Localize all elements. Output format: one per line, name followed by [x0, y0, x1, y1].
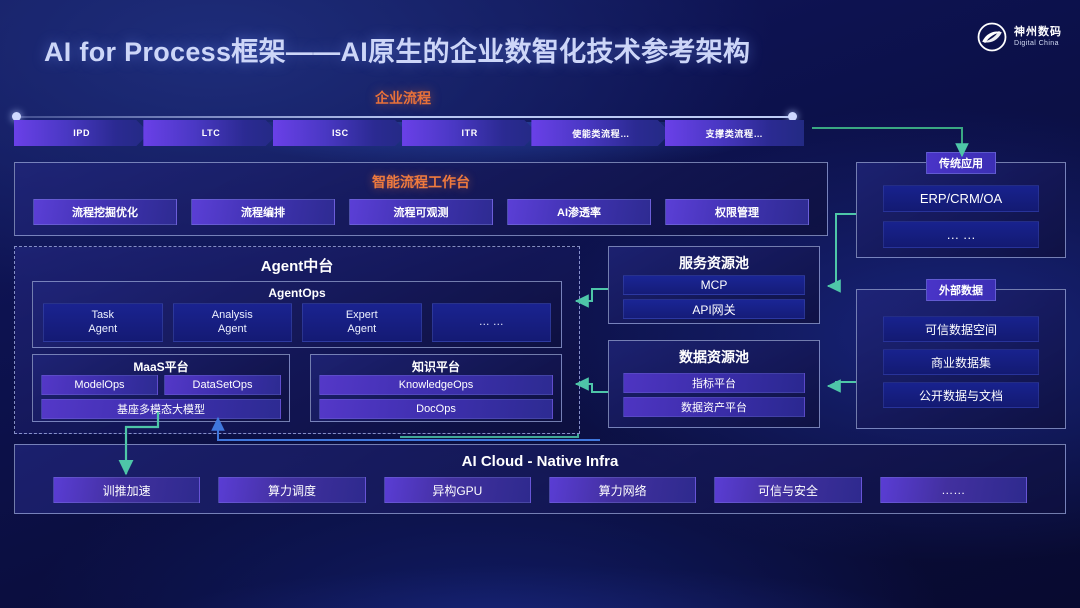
- service-pool-title: 服务资源池: [609, 253, 819, 273]
- service-pool-rows: MCP API网关: [623, 275, 805, 319]
- connector-external-data-to-data-pool: [828, 382, 856, 386]
- logo-text-cn: 神州数码: [1014, 27, 1062, 39]
- process-chevron-bar: IPD LTC ISC ITR 使能类流程… 支撑类流程…: [14, 120, 804, 146]
- agentops-box-expert-agent[interactable]: Expert Agent: [302, 303, 422, 342]
- service-pool-chip-mcp[interactable]: MCP: [623, 275, 805, 295]
- connector-agent-bottom-rail: [400, 434, 578, 437]
- agentops-title: AgentOps: [33, 286, 561, 300]
- workbench-chip-permissions[interactable]: 权限管理: [665, 199, 809, 225]
- workbench-chip-row: 流程挖掘优化 流程编排 流程可观测 AI渗透率 权限管理: [33, 199, 809, 225]
- connector-traditional-app-to-service-pool: [828, 214, 856, 286]
- agentops-box-task-agent[interactable]: Task Agent: [43, 303, 163, 342]
- knowledge-title: 知识平台: [311, 358, 561, 375]
- traditional-app-chip-more[interactable]: … …: [883, 221, 1039, 248]
- logo-text-en: Digital China: [1014, 40, 1062, 47]
- external-data-tag: 外部数据: [926, 279, 996, 301]
- workbench-chip-process-mining[interactable]: 流程挖掘优化: [33, 199, 177, 225]
- data-pool-chip-metrics[interactable]: 指标平台: [623, 373, 805, 393]
- knowledge-chip-docops[interactable]: DocOps: [319, 399, 553, 419]
- knowledge-row-docops: DocOps: [319, 399, 553, 419]
- maas-chip-datasetops[interactable]: DataSetOps: [164, 375, 281, 395]
- workbench-chip-ai-penetration[interactable]: AI渗透率: [507, 199, 651, 225]
- infra-chip-compute-network[interactable]: 算力网络: [549, 477, 696, 503]
- infra-chip-row: 训推加速 算力调度 异构GPU 算力网络 可信与安全 ……: [53, 477, 1027, 503]
- external-data-rows: 可信数据空间 商业数据集 公开数据与文档: [883, 316, 1039, 408]
- chevron-stage-ipd[interactable]: IPD: [14, 120, 149, 146]
- panel-maas-platform: MaaS平台 ModelOps DataSetOps 基座多模态大模型: [32, 354, 290, 422]
- data-pool-rows: 指标平台 数据资产平台: [623, 373, 805, 417]
- external-data-chip-trusted-space[interactable]: 可信数据空间: [883, 316, 1039, 342]
- agentops-analysis-line2: Agent: [218, 323, 247, 336]
- knowledge-chip-knowledgeops[interactable]: KnowledgeOps: [319, 375, 553, 395]
- chevron-stage-ltc[interactable]: LTC: [143, 120, 278, 146]
- maas-chip-modelops[interactable]: ModelOps: [41, 375, 158, 395]
- page-title: AI for Process框架——AI原生的企业数智化技术参考架构: [44, 30, 750, 69]
- agentops-analysis-line1: Analysis: [212, 309, 253, 322]
- infra-chip-train-infer-accel[interactable]: 训推加速: [53, 477, 200, 503]
- agentops-box-row: Task Agent Analysis Agent Expert Agent ……: [43, 303, 551, 342]
- panel-ai-cloud-native-infra: AI Cloud - Native Infra 训推加速 算力调度 异构GPU …: [14, 444, 1066, 514]
- service-pool-chip-api-gateway[interactable]: API网关: [623, 299, 805, 319]
- agentops-expert-line1: Expert: [346, 309, 378, 322]
- agentops-task-line1: Task: [91, 309, 114, 322]
- panel-external-data: 外部数据 可信数据空间 商业数据集 公开数据与文档: [856, 289, 1066, 429]
- panel-service-resource-pool: 服务资源池 MCP API网关: [608, 246, 820, 324]
- logo-wordmark: 神州数码 Digital China: [1014, 27, 1062, 47]
- infra-title: AI Cloud - Native Infra: [15, 453, 1065, 470]
- chevron-stage-isc[interactable]: ISC: [273, 120, 408, 146]
- connector-service-pool-to-agent: [576, 289, 608, 301]
- external-data-chip-commercial-dataset[interactable]: 商业数据集: [883, 349, 1039, 375]
- workbench-chip-observability[interactable]: 流程可观测: [349, 199, 493, 225]
- process-rail: [14, 116, 792, 118]
- chevron-stage-enabling[interactable]: 使能类流程…: [531, 120, 670, 146]
- agentops-expert-line2: Agent: [347, 323, 376, 336]
- slide-canvas: AI for Process框架——AI原生的企业数智化技术参考架构 神州数码 …: [0, 0, 1080, 608]
- panel-data-resource-pool: 数据资源池 指标平台 数据资产平台: [608, 340, 820, 428]
- chevron-stage-itr[interactable]: ITR: [402, 120, 537, 146]
- traditional-app-tag: 传统应用: [926, 152, 996, 174]
- infra-chip-compute-scheduling[interactable]: 算力调度: [218, 477, 365, 503]
- knowledge-row-knowledgeops: KnowledgeOps: [319, 375, 553, 395]
- agentops-box-analysis-agent[interactable]: Analysis Agent: [173, 303, 293, 342]
- infra-chip-more[interactable]: ……: [880, 477, 1027, 503]
- panel-agentops: AgentOps Task Agent Analysis Agent Exper…: [32, 281, 562, 348]
- knowledge-rows: KnowledgeOps DocOps: [319, 375, 553, 419]
- traditional-app-rows: ERP/CRM/OA … …: [883, 185, 1039, 248]
- maas-rows: ModelOps DataSetOps 基座多模态大模型: [41, 375, 281, 419]
- maas-title: MaaS平台: [33, 358, 289, 375]
- data-pool-title: 数据资源池: [609, 347, 819, 367]
- panel-traditional-applications: 传统应用 ERP/CRM/OA … …: [856, 162, 1066, 258]
- connector-data-pool-to-knowledge: [576, 384, 608, 392]
- infra-chip-trust-security[interactable]: 可信与安全: [714, 477, 861, 503]
- external-data-chip-public-docs[interactable]: 公开数据与文档: [883, 382, 1039, 408]
- maas-chip-foundation-model[interactable]: 基座多模态大模型: [41, 399, 281, 419]
- workbench-title: 智能流程工作台: [15, 172, 827, 192]
- process-band-label: 企业流程: [375, 88, 431, 108]
- chevron-stage-supporting[interactable]: 支撑类流程…: [665, 120, 804, 146]
- panel-knowledge-platform: 知识平台 KnowledgeOps DocOps: [310, 354, 562, 422]
- swoosh-logo-icon: [977, 22, 1007, 52]
- agentops-box-more[interactable]: … …: [432, 303, 552, 342]
- workbench-chip-orchestration[interactable]: 流程编排: [191, 199, 335, 225]
- bottom-glow: [0, 520, 1080, 608]
- maas-row-foundation: 基座多模态大模型: [41, 399, 281, 419]
- infra-chip-heterogeneous-gpu[interactable]: 异构GPU: [384, 477, 531, 503]
- panel-intelligent-workbench: 智能流程工作台 流程挖掘优化 流程编排 流程可观测 AI渗透率 权限管理: [14, 162, 828, 236]
- agent-platform-title: Agent中台: [15, 255, 579, 276]
- agentops-task-line2: Agent: [88, 323, 117, 336]
- traditional-app-chip-erp-crm-oa[interactable]: ERP/CRM/OA: [883, 185, 1039, 212]
- brand-logo: 神州数码 Digital China: [977, 22, 1062, 52]
- data-pool-chip-data-asset[interactable]: 数据资产平台: [623, 397, 805, 417]
- maas-row-ops: ModelOps DataSetOps: [41, 375, 281, 395]
